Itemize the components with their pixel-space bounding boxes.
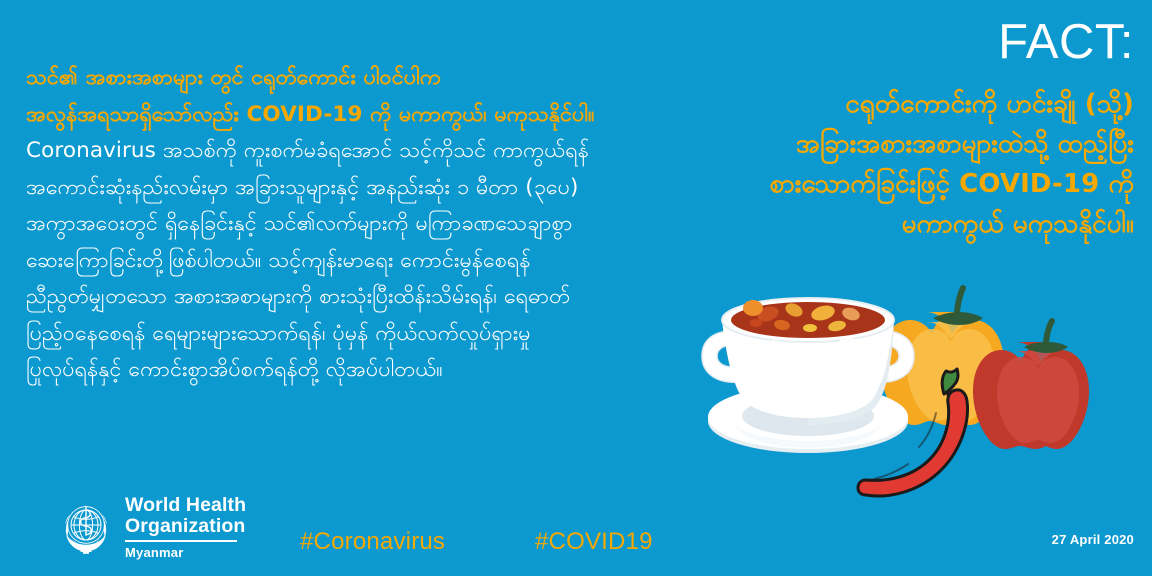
who-wordmark: World Health Organization Myanmar	[125, 496, 246, 559]
body-line-8: ပြည့်ဝနေစေရန် ရေများများသောက်ရန်၊ ပုံမှန…	[26, 316, 686, 353]
fact-line-3: စားသောက်ခြင်းဖြင့် COVID-19 ကို	[664, 164, 1134, 204]
fact-line-4: မကာကွယ် မကုသနိုင်ပါ။	[664, 204, 1134, 244]
food-illustration	[690, 250, 1152, 530]
fact-line-1: ငရုတ်ကောင်းကို ဟင်းချို (သို့)	[664, 84, 1134, 124]
body-line-4: အကောင်းဆုံးနည်းလမ်းမှာ အခြားသူများနှင့် …	[26, 170, 686, 207]
yellow-pepper-stem	[957, 288, 963, 312]
who-country-label: Myanmar	[125, 546, 246, 559]
left-body-text: သင်၏ အစားအစာများ တွင် ငရုတ်ကောင်း ပါဝင်ပ…	[26, 60, 686, 389]
body-line-6: ဆေးကြောခြင်းတို့ဖြစ်ပါတယ်။ သင့်ကျန်းမာရေ…	[26, 243, 686, 280]
fact-body-text: ငရုတ်ကောင်းကို ဟင်းချို (သို့) အခြားအစား…	[664, 84, 1134, 244]
date-stamp: 27 April 2020	[1052, 532, 1134, 547]
who-divider	[125, 540, 237, 542]
red-pepper-stem	[1046, 321, 1052, 342]
hashtag-coronavirus: #Coronavirus	[300, 528, 445, 556]
fact-line-2: အခြားအစားအစာများထဲသို့ ထည့်ပြီး	[664, 124, 1134, 164]
body-line-7: ညီညွတ်မျှတသော အစားအစာများကို စားသုံးပြီး…	[26, 279, 686, 316]
who-emblem-icon	[56, 498, 116, 558]
who-logo: World Health Organization Myanmar	[56, 496, 246, 559]
body-line-2: အလွန်အရသာရှိသော်လည်း COVID-19 ကို မကာကွယ…	[26, 97, 686, 134]
soup-bowl-icon	[702, 298, 914, 453]
body-line-9: ပြုလုပ်ရန်နှင့် ကောင်းစွာအိပ်စက်ရန်တို့ …	[26, 352, 686, 389]
fact-heading: FACT:	[998, 16, 1134, 68]
body-line-3: Coronavirus အသစ်ကို ကူးစက်မခံရအောင် သင့်…	[26, 133, 686, 170]
body-line-1: သင်၏ အစားအစာများ တွင် ငရုတ်ကောင်း ပါဝင်ပ…	[26, 60, 686, 97]
hashtag-covid19: #COVID19	[535, 528, 653, 556]
who-line-1: World Health	[125, 496, 246, 516]
poster-canvas: သင်၏ အစားအစာများ တွင် ငရုတ်ကောင်း ပါဝင်ပ…	[0, 0, 1152, 576]
who-line-2: Organization	[125, 517, 246, 537]
body-line-5: အကွာအဝေးတွင် ရှိနေခြင်းနှင့် သင်၏လက်များ…	[26, 206, 686, 243]
